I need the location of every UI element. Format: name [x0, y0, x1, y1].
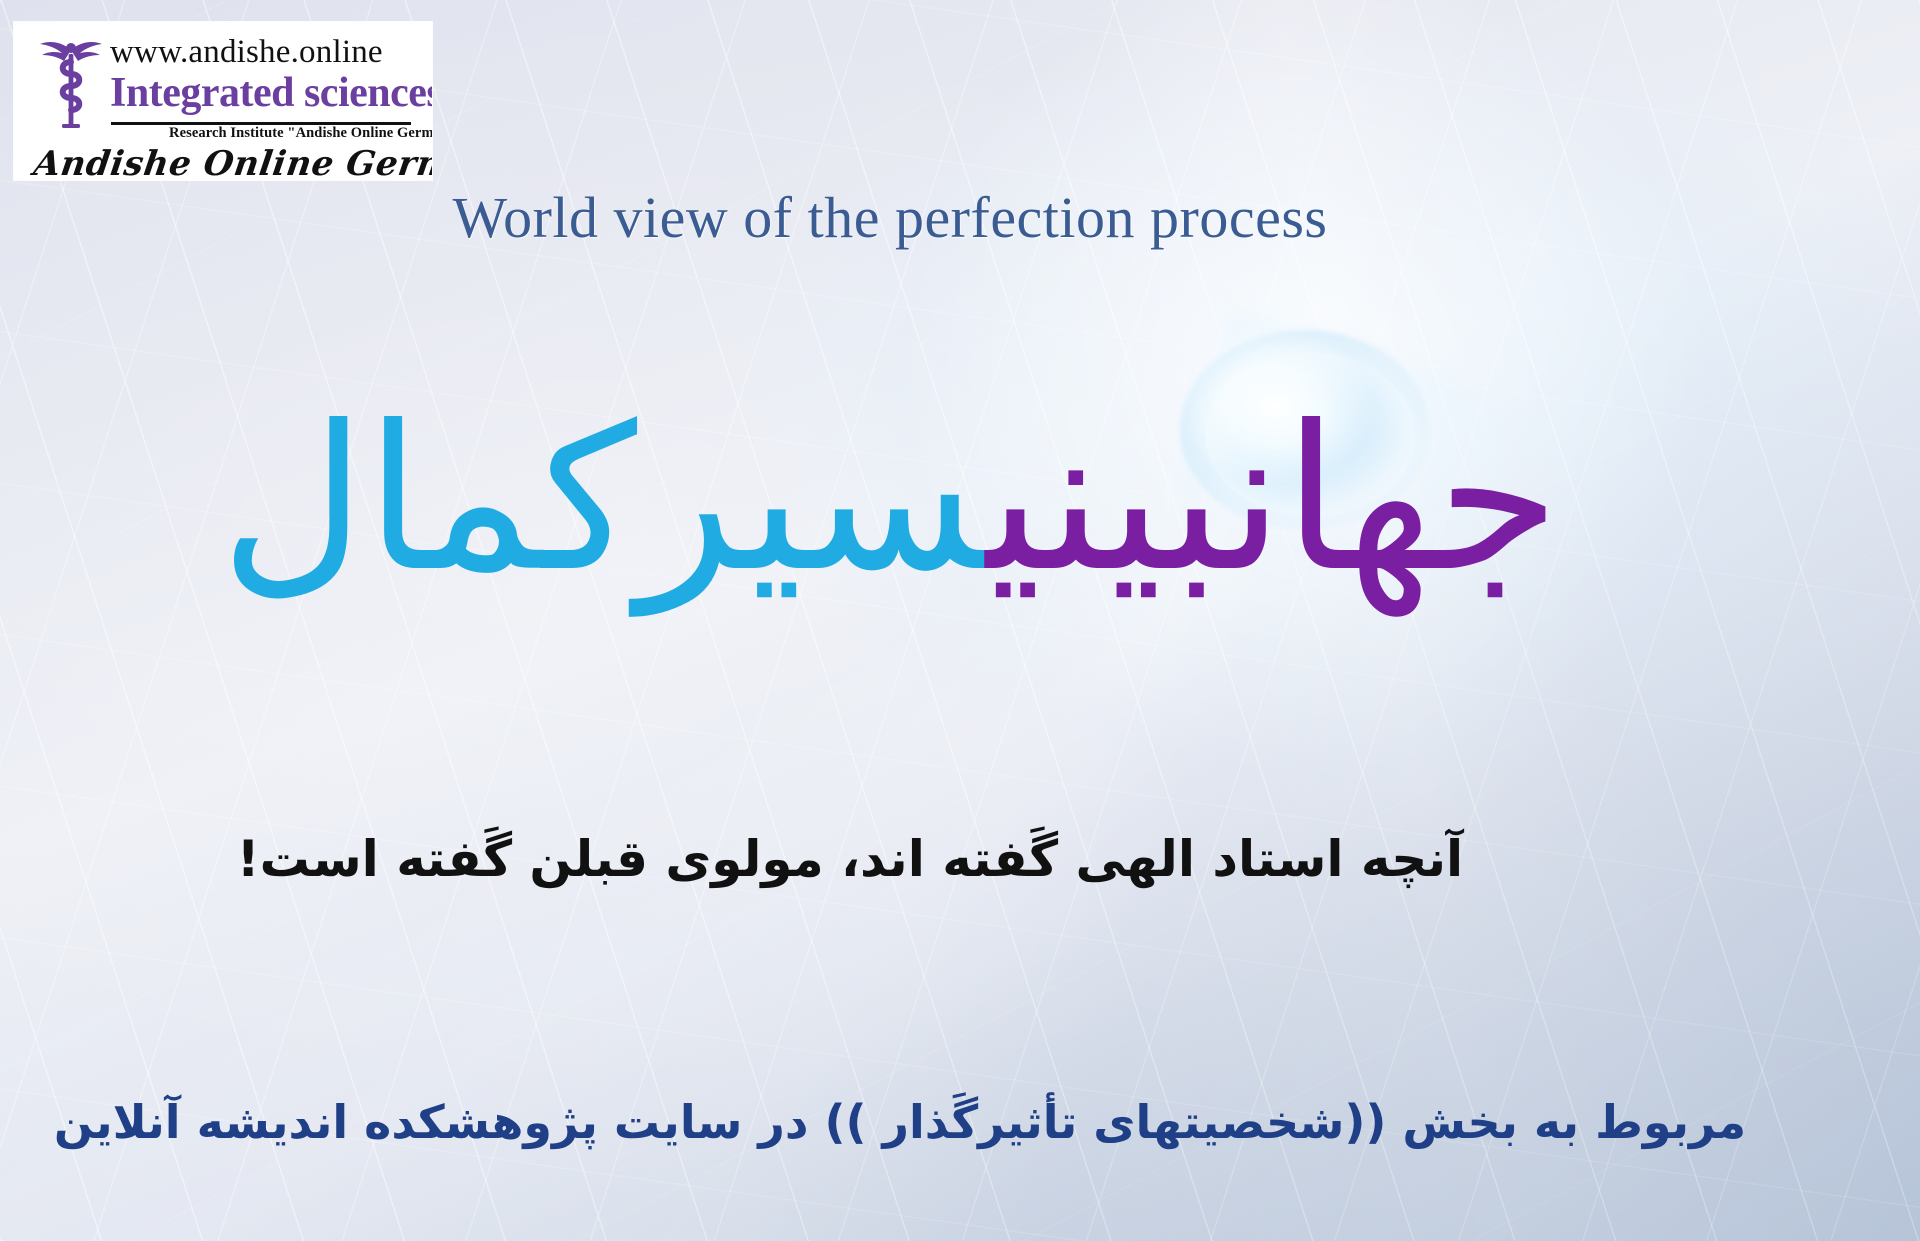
logo-brand: Integrated sciences [110, 69, 432, 117]
caduceus-icon [36, 36, 106, 132]
logo-institute: Research Institute "Andishe Online Germa… [169, 125, 432, 142]
title-word-seyr-e-kamal: سیرکمال [220, 383, 986, 616]
persian-main-title: جهانبینیسیرکمال [0, 400, 1780, 600]
persian-subtitle: آنچه استاد الهی گَفته اند، مولوی قبلن گَ… [0, 830, 1700, 888]
persian-footer-note: مربوط به بخش ((شخصیتهای تأثیرگَذار )) در… [0, 1095, 1800, 1149]
logo-script-name: Andishe Online Germany [31, 144, 432, 180]
english-headline: World view of the perfection process [0, 184, 1780, 251]
logo-website: www.andishe.online [110, 34, 383, 71]
title-word-jahanbini: جهانبینی [986, 383, 1560, 616]
poster-canvas: www.andishe.online Integrated sciences R… [0, 0, 1920, 1241]
logo-box[interactable]: www.andishe.online Integrated sciences R… [14, 22, 432, 180]
